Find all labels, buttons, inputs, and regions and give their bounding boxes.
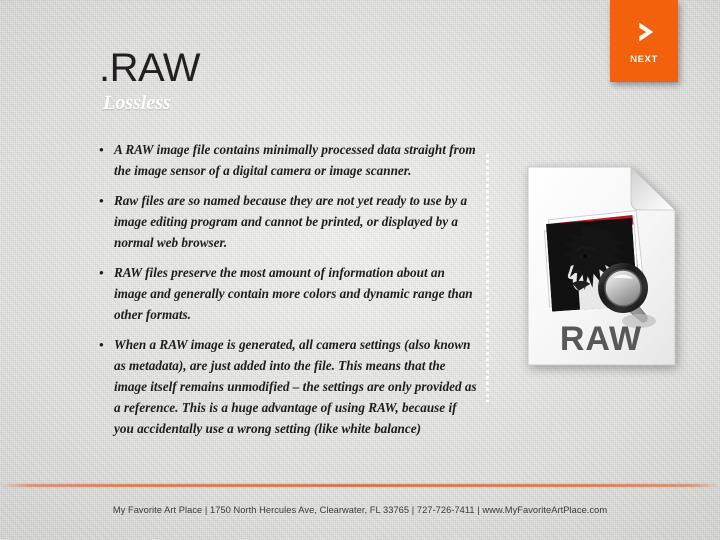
list-item: • RAW files preserve the most amount of … (97, 262, 477, 325)
bullet-marker: • (99, 190, 104, 211)
list-item-text: A RAW image file contains minimally proc… (114, 142, 476, 178)
list-item-text: When a RAW image is generated, all camer… (114, 337, 477, 436)
raw-file-icon: RAW (527, 166, 676, 366)
orange-horizontal-rule (0, 484, 720, 487)
bullet-list: • A RAW image file contains minimally pr… (97, 139, 477, 448)
raw-icon-caption: RAW (560, 320, 642, 358)
list-item-text: Raw files are so named because they are … (114, 193, 467, 250)
dotted-vertical-divider (486, 154, 489, 402)
list-item: • Raw files are so named because they ar… (97, 190, 477, 253)
list-item: • When a RAW image is generated, all cam… (97, 334, 477, 439)
list-item: • A RAW image file contains minimally pr… (97, 139, 477, 181)
slide-canvas: NEXT .RAW Lossless • A RAW image file co… (0, 0, 720, 540)
chevron-right-icon (631, 19, 657, 45)
page-subtitle: Lossless (103, 92, 171, 114)
bullet-marker: • (99, 334, 104, 355)
bullet-marker: • (99, 262, 104, 283)
page-title: .RAW (99, 48, 200, 88)
footer-contact-text: My Favorite Art Place | 1750 North Hercu… (0, 505, 720, 515)
bullet-marker: • (99, 139, 104, 160)
next-button[interactable]: NEXT (610, 0, 678, 82)
next-button-label: NEXT (630, 54, 658, 65)
list-item-text: RAW files preserve the most amount of in… (114, 265, 473, 322)
